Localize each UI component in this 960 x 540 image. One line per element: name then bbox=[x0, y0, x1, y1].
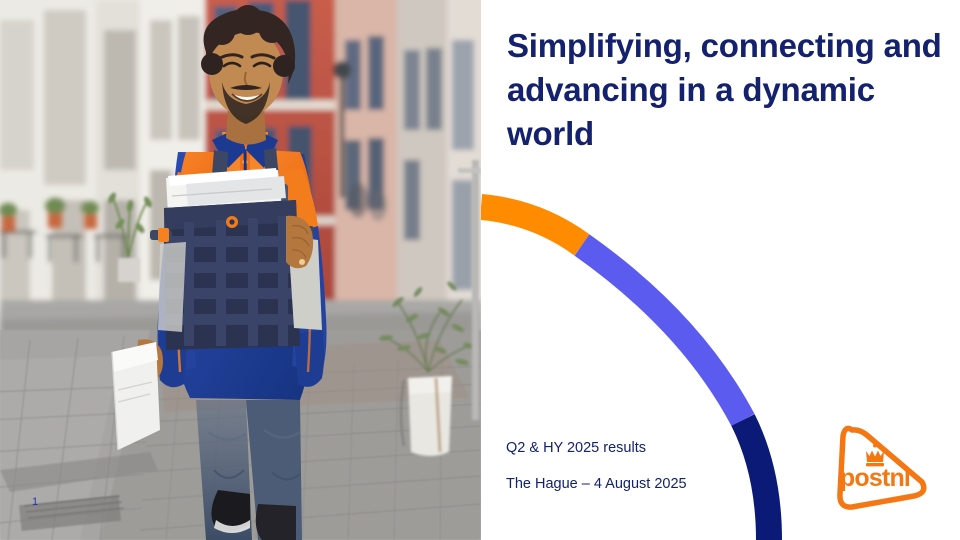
postnl-crown-triangle-icon: postnl bbox=[833, 418, 938, 518]
slide-subtitle: Q2 & HY 2025 results The Hague – 4 Augus… bbox=[506, 440, 806, 492]
postnl-logo: postnl bbox=[833, 418, 938, 518]
hero-photo: 1 bbox=[0, 0, 481, 540]
subtitle-line-results: Q2 & HY 2025 results bbox=[506, 440, 806, 456]
presentation-slide: 1 Simplifying, connecting and advancing … bbox=[0, 0, 960, 540]
subtitle-line-location-date: The Hague – 4 August 2025 bbox=[506, 476, 806, 492]
postnl-wordmark: postnl bbox=[840, 464, 910, 492]
content-panel: Simplifying, connecting and advancing in… bbox=[481, 0, 960, 540]
slide-title: Simplifying, connecting and advancing in… bbox=[507, 24, 947, 157]
arc-segment-orange bbox=[481, 207, 582, 245]
arc-segment-periwinkle bbox=[582, 245, 743, 420]
page-number: 1 bbox=[32, 496, 38, 508]
